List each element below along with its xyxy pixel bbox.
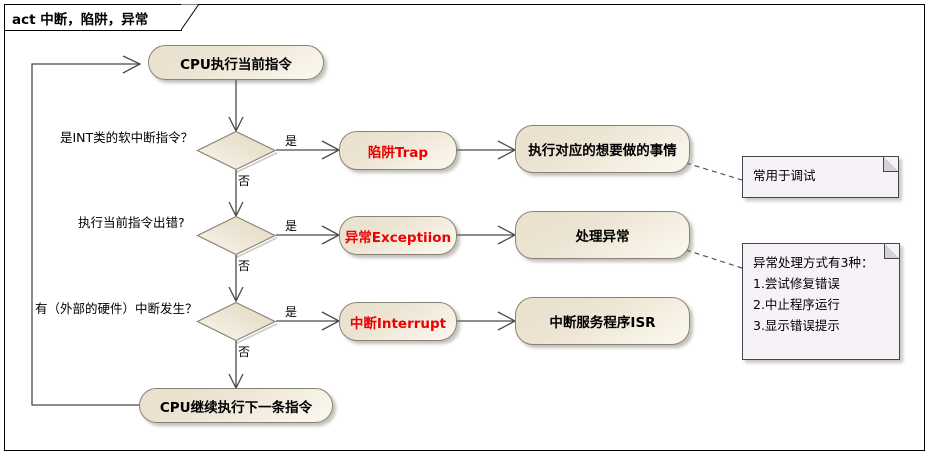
guard-no-2: 否: [238, 257, 250, 274]
diagram-title: act 中断，陷阱，异常: [12, 8, 148, 28]
node-exception[interactable]: 异常Exceptiion: [339, 216, 457, 255]
decision-instruction-error[interactable]: [196, 215, 280, 259]
node-label: 执行对应的想要做的事情: [528, 139, 677, 159]
node-interrupt[interactable]: 中断Interrupt: [339, 302, 457, 341]
note-line: 常用于调试: [753, 165, 890, 186]
note-body: 常用于调试: [753, 165, 890, 186]
node-label: 中断Interrupt: [350, 312, 446, 332]
node-label: 陷阱Trap: [368, 141, 428, 161]
note-exception-handling: 异常处理方式有3种： 1.尝试修复错误 2.中止程序运行 3.显示错误提示: [742, 243, 900, 360]
node-label: 异常Exceptiion: [345, 226, 451, 246]
node-cpu-execute-current[interactable]: CPU执行当前指令: [148, 45, 324, 80]
guard-yes-3: 是: [285, 303, 297, 320]
node-cpu-continue-next[interactable]: CPU继续执行下一条指令: [139, 388, 333, 423]
guard-yes-1: 是: [285, 132, 297, 149]
node-label: 处理异常: [576, 225, 630, 245]
guard-no-3: 否: [238, 343, 250, 360]
node-label: CPU继续执行下一条指令: [160, 396, 312, 416]
note-body: 异常处理方式有3种： 1.尝试修复错误 2.中止程序运行 3.显示错误提示: [753, 252, 891, 336]
guard-no-1: 否: [238, 172, 250, 189]
diagram-canvas: act 中断，陷阱，异常: [0, 0, 931, 457]
node-trap-action[interactable]: 执行对应的想要做的事情: [515, 125, 690, 173]
node-label: 中断服务程序ISR: [549, 311, 655, 331]
decision-question-2: 执行当前指令出错?: [78, 212, 185, 231]
decision-question-3: 有（外部的硬件）中断发生？: [35, 298, 198, 317]
note-line: 2.中止程序运行: [753, 294, 891, 315]
node-trap[interactable]: 陷阱Trap: [339, 131, 457, 170]
node-label: CPU执行当前指令: [180, 53, 292, 73]
note-trap-debug: 常用于调试: [742, 156, 899, 198]
note-line: 3.显示错误提示: [753, 315, 891, 336]
note-line: 1.尝试修复错误: [753, 273, 891, 294]
decision-question-1: 是INT类的软中断指令？: [60, 127, 193, 146]
node-interrupt-action[interactable]: 中断服务程序ISR: [515, 297, 690, 345]
note-line: 异常处理方式有3种：: [753, 252, 891, 273]
guard-yes-2: 是: [285, 217, 297, 234]
uml-frame-tab-slant: [181, 4, 201, 31]
decision-hardware-interrupt[interactable]: [196, 301, 280, 345]
decision-is-int-instruction[interactable]: [196, 130, 280, 174]
node-exception-action[interactable]: 处理异常: [515, 211, 690, 259]
